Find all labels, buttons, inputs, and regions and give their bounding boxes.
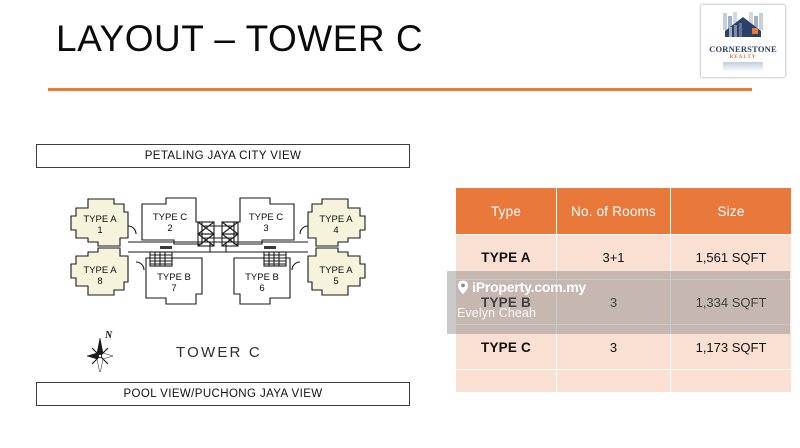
logo-company-subtitle: REALTY — [730, 55, 757, 60]
unit-label: TYPE A — [319, 265, 353, 276]
unit-number: 3 — [263, 223, 268, 234]
unit-label: TYPE C — [249, 212, 283, 223]
building-logo-icon — [717, 11, 769, 43]
unit-label: TYPE C — [153, 212, 187, 223]
cell-empty — [456, 370, 556, 392]
view-banner-bottom: POOL VIEW/PUCHONG JAYA VIEW — [36, 382, 410, 406]
unit-number: 4 — [333, 225, 338, 236]
view-banner-bottom-label: POOL VIEW/PUCHONG JAYA VIEW — [123, 388, 322, 400]
column-header-size: Size — [671, 188, 791, 234]
unit-label: TYPE A — [83, 265, 117, 276]
tower-caption: TOWER C — [176, 344, 262, 361]
unit-number: 2 — [167, 223, 172, 234]
table-row: TYPE C 3 1,173 SQFT — [456, 325, 791, 369]
cell-size: 1,561 SQFT — [671, 235, 791, 279]
table-header-row: Type No. of Rooms Size — [456, 188, 791, 234]
logo-reflection — [723, 62, 763, 72]
cell-type: TYPE A — [456, 235, 556, 279]
page-title: LAYOUT – TOWER C — [56, 20, 423, 57]
unit-number: 8 — [97, 276, 102, 287]
unit-schedule-table: Type No. of Rooms Size TYPE A 3+1 1,561 … — [455, 187, 792, 393]
unit-label: TYPE A — [319, 214, 353, 225]
presentation-slide: LAYOUT – TOWER C CORNERSTONE REALTY PETA… — [0, 0, 800, 448]
cell-size: 1,173 SQFT — [671, 325, 791, 369]
unit-label: TYPE B — [157, 272, 191, 283]
unit-number: 7 — [171, 283, 176, 294]
table-row-empty — [456, 370, 791, 392]
cell-type: TYPE C — [456, 325, 556, 369]
unit-label: TYPE B — [245, 272, 279, 283]
cell-rooms: 3 — [557, 325, 670, 369]
compass-rose-icon: N — [82, 326, 122, 372]
cell-empty — [671, 370, 791, 392]
view-banner-top: PETALING JAYA CITY VIEW — [36, 144, 410, 168]
cell-empty — [557, 370, 670, 392]
floorplan-diagram: TYPE A 1 TYPE C 2 TYPE C 3 TYPE A 4 TYPE… — [62, 186, 374, 316]
table-row: TYPE B 3 1,334 SQFT — [456, 280, 791, 324]
cell-rooms: 3 — [557, 280, 670, 324]
compass-north-label: N — [104, 330, 113, 341]
unit-number: 5 — [333, 276, 338, 287]
table-row: TYPE A 3+1 1,561 SQFT — [456, 235, 791, 279]
logo-company-name: CORNERSTONE — [709, 44, 777, 54]
cell-type: TYPE B — [456, 280, 556, 324]
unit-label: TYPE A — [83, 214, 117, 225]
company-logo: CORNERSTONE REALTY — [700, 4, 786, 78]
cell-rooms: 3+1 — [557, 235, 670, 279]
title-divider-rule — [48, 88, 752, 91]
column-header-type: Type — [456, 188, 556, 234]
unit-number: 1 — [97, 225, 102, 236]
unit-number: 6 — [259, 283, 264, 294]
cell-size: 1,334 SQFT — [671, 280, 791, 324]
view-banner-top-label: PETALING JAYA CITY VIEW — [145, 150, 302, 162]
column-header-rooms: No. of Rooms — [557, 188, 670, 234]
